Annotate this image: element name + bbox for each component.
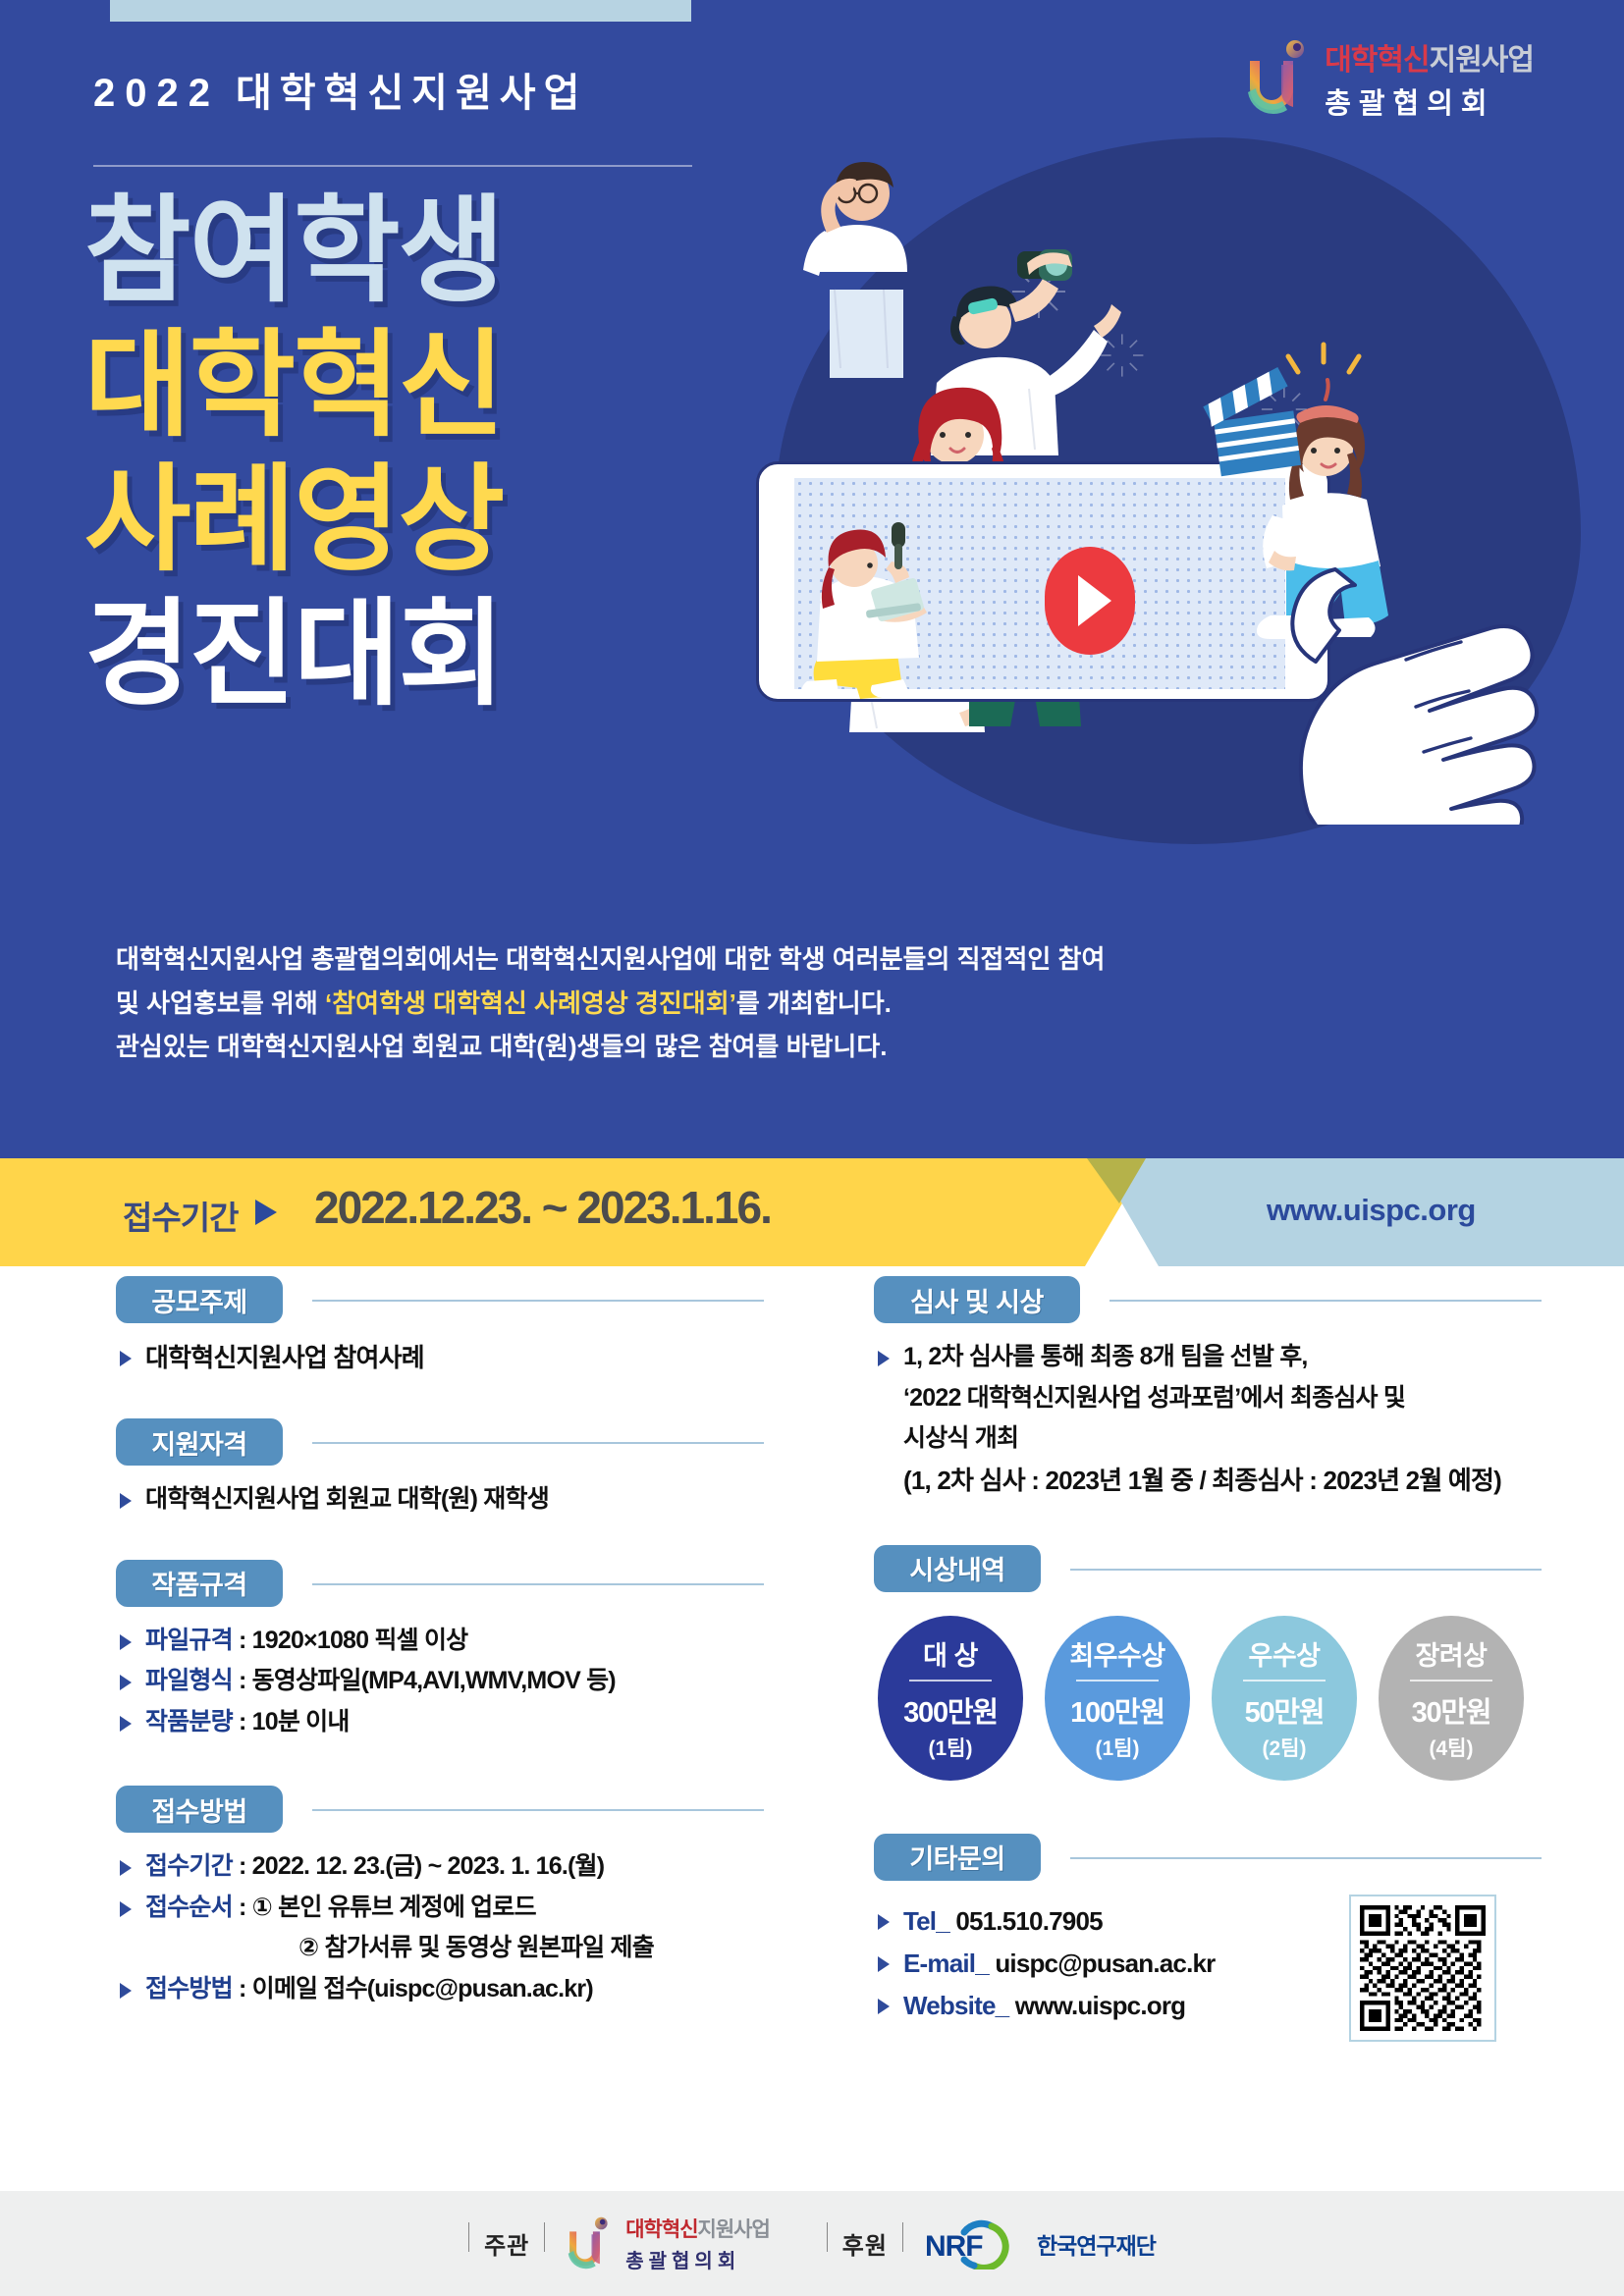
section-title-badge: 작품규격: [116, 1560, 283, 1607]
play-button-icon: [1045, 547, 1135, 655]
nrf-abbr: NRF: [925, 2230, 983, 2264]
host-tag: 주관: [468, 2226, 545, 2261]
section-rule: [312, 1442, 764, 1444]
kicker-divider: [93, 165, 692, 167]
item-sep: :: [233, 1852, 252, 1880]
band-label: 접수기간: [123, 1192, 238, 1239]
nrf-logo: NRF 한국연구재단: [921, 2218, 1156, 2269]
qr-code[interactable]: [1349, 1895, 1496, 2042]
nrf-korean-name: 한국연구재단: [1037, 2227, 1156, 2261]
footer-logo-line1-gray: 지원사업: [698, 2218, 770, 2241]
hero-illustration: [727, 118, 1624, 942]
contact-value: www.uispc.org: [1008, 1991, 1185, 2020]
uispc-logo-text: 대학혁신지원사업 총괄협의회: [1325, 35, 1534, 122]
list-item: 파일규격 : 1920×1080 픽셀 이상: [116, 1623, 764, 1660]
contact-label: Website_: [903, 1991, 1008, 2020]
list-item-continued: (1, 2차 심사 : 2023년 1월 중 / 최종심사 : 2023년 2월…: [874, 1462, 1542, 1500]
section-items: 파일규격 : 1920×1080 픽셀 이상 파일형식 : 동영상파일(MP4,…: [116, 1623, 764, 1741]
band-dates: 2022.12.23. ~ 2023.1.16.: [314, 1181, 771, 1234]
section-header: 기타문의: [874, 1834, 1542, 1881]
list-item: 접수방법 : 이메일 접수(uispc@pusan.ac.kr): [116, 1971, 764, 2008]
contact-label: Tel_: [903, 1906, 949, 1936]
headline-line-4: 경진대회: [84, 588, 752, 722]
award-name: 대 상: [923, 1634, 978, 1673]
uispc-logo-mark-icon: [563, 2216, 614, 2271]
award-amount: 50만원: [1245, 1689, 1325, 1731]
section-header: 지원자격: [116, 1418, 764, 1466]
item-value: : 이메일 접수(uispc@pusan.ac.kr): [233, 1975, 593, 2002]
uispc-logo-text: 대학혁신지원사업 총괄협의회: [625, 2214, 770, 2273]
award-badge: 최우수상 100만원 (1팀): [1045, 1616, 1190, 1781]
nrf-logo-mark-icon: NRF: [921, 2218, 1027, 2269]
section-judging: 심사 및 시상 1, 2차 심사를 통해 최종 8개 팀을 선발 후, ‘202…: [874, 1276, 1542, 1500]
section-title-badge: 기타문의: [874, 1834, 1041, 1881]
section-rule: [1070, 1857, 1542, 1859]
award-teams: (4팀): [1430, 1733, 1474, 1762]
awards-list: 대 상 300만원 (1팀) 최우수상 100만원 (1팀) 우수상 50만원 …: [874, 1616, 1542, 1783]
award-amount: 300만원: [903, 1689, 998, 1731]
award-amount: 100만원: [1070, 1689, 1164, 1731]
award-divider: [1076, 1680, 1159, 1682]
item-value: : 10분 이내: [233, 1708, 350, 1735]
list-item-continued: ‘2022 대학혁신지원사업 성과포럼’에서 최종심사 및: [874, 1380, 1542, 1417]
award-name: 장려상: [1415, 1634, 1487, 1673]
section-howto: 접수방법 접수기간 : 2022. 12. 23.(금) ~ 2023. 1. …: [116, 1786, 764, 2007]
hand-holding-phone-illustration: [1237, 412, 1561, 825]
uispc-logo-hero: 대학혁신지원사업 총괄협의회: [1240, 35, 1534, 122]
item-value: : 동영상파일(MP4,AVI,WMV,MOV 등): [233, 1667, 616, 1694]
section-header: 작품규격: [116, 1560, 764, 1607]
section-rule: [1110, 1300, 1542, 1302]
list-item: 작품분량 : 10분 이내: [116, 1704, 764, 1741]
award-amount: 30만원: [1412, 1689, 1491, 1731]
footer: 주관: [0, 2191, 1624, 2296]
award-name: 최우수상: [1069, 1634, 1164, 1673]
list-item: 접수기간 : 2022. 12. 23.(금) ~ 2023. 1. 16.(월…: [116, 1848, 764, 1886]
logo-line1-red: 대학혁신: [1325, 44, 1429, 77]
award-badge: 장려상 30만원 (4팀): [1379, 1616, 1524, 1781]
section-items: 대학혁신지원사업 참여사례: [116, 1339, 764, 1377]
intro-line-2-highlight: ‘참여학생 대학혁신 사례영상 경진대회’: [325, 988, 736, 1018]
kicker-year: 2022: [93, 72, 220, 115]
section-title-badge: 공모주제: [116, 1276, 283, 1323]
intro-line-2b: 를 개최합니다.: [736, 988, 892, 1018]
section-eligibility: 지원자격 대학혁신지원사업 회원교 대학(원) 재학생: [116, 1418, 764, 1519]
item-value: : ① 본인 유튜브 계정에 업로드: [233, 1894, 536, 1921]
left-column: 공모주제 대학혁신지원사업 참여사례 지원자격 대학혁신지원사업 회원교 대학(…: [116, 1276, 764, 2033]
award-divider: [1243, 1680, 1326, 1682]
section-title-badge: 시상내역: [874, 1545, 1041, 1592]
section-items: 대학혁신지원사업 회원교 대학(원) 재학생: [116, 1481, 764, 1519]
section-items: 1, 2차 심사를 통해 최종 8개 팀을 선발 후, ‘2022 대학혁신지원…: [874, 1339, 1542, 1500]
section-header: 접수방법: [116, 1786, 764, 1833]
intro-paragraph: 대학혁신지원사업 총괄협의회에서는 대학혁신지원사업에 대한 학생 여러분들의 …: [116, 937, 1216, 1069]
band-website-url[interactable]: www.uispc.org: [1267, 1193, 1476, 1228]
list-item: 접수순서 : ① 본인 유튜브 계정에 업로드: [116, 1890, 764, 1927]
section-spec: 작품규격 파일규격 : 1920×1080 픽셀 이상 파일형식 : 동영상파일…: [116, 1560, 764, 1741]
section-items: 접수기간 : 2022. 12. 23.(금) ~ 2023. 1. 16.(월…: [116, 1848, 764, 2007]
logo-line2: 총괄협의회: [1325, 80, 1534, 122]
section-awards: 시상내역 대 상 300만원 (1팀) 최우수상 100만원 (1팀) 우수상: [874, 1545, 1542, 1783]
item-value: : 1920×1080 픽셀 이상: [233, 1627, 468, 1654]
application-period-band: 접수기간 2022.12.23. ~ 2023.1.16. www.uispc.…: [0, 1158, 1624, 1266]
headline-line-2: 대학혁신: [84, 319, 752, 454]
section-header: 심사 및 시상: [874, 1276, 1542, 1323]
section-header: 공모주제: [116, 1276, 764, 1323]
item-label: 파일규격: [145, 1627, 233, 1654]
footer-logo-line2: 총괄협의회: [625, 2245, 770, 2273]
intro-line-3: 관심있는 대학혁신지원사업 회원교 대학(원)생들의 많은 참여를 바랍니다.: [116, 1025, 1216, 1069]
item-value: 2022. 12. 23.(금) ~ 2023. 1. 16.(월): [252, 1852, 605, 1880]
section-rule: [312, 1809, 764, 1811]
details-section: 공모주제 대학혁신지원사업 참여사례 지원자격 대학혁신지원사업 회원교 대학(…: [0, 1276, 1624, 2160]
headline-line-3: 사례영상: [84, 454, 752, 588]
award-badge: 우수상 50만원 (2팀): [1212, 1616, 1357, 1781]
section-title-badge: 지원자격: [116, 1418, 283, 1466]
contact-value: uispc@pusan.ac.kr: [989, 1949, 1216, 1978]
host-group: 주관: [468, 2214, 770, 2273]
item-label: 작품분량: [145, 1708, 233, 1735]
item-label: 접수기간: [145, 1852, 233, 1880]
person-microphone-figure: [787, 510, 984, 707]
sponsor-tag: 후원: [827, 2226, 903, 2261]
section-rule: [312, 1583, 764, 1585]
award-divider: [1410, 1680, 1492, 1682]
kicker-text: 대학혁신지원사업: [236, 72, 587, 115]
section-title-badge: 심사 및 시상: [874, 1276, 1080, 1323]
logo-line1-gray: 지원사업: [1430, 44, 1534, 77]
right-column: 심사 및 시상 1, 2차 심사를 통해 최종 8개 팀을 선발 후, ‘202…: [874, 1276, 1542, 2051]
award-name: 우수상: [1248, 1634, 1320, 1673]
award-teams: (2팀): [1263, 1733, 1307, 1762]
section-rule: [1070, 1569, 1542, 1571]
intro-line-2: 및 사업홍보를 위해 ‘참여학생 대학혁신 사례영상 경진대회’를 개최합니다.: [116, 982, 1216, 1026]
section-contact: 기타문의 Tel_ 051.510.7905 E-mail_ uispc@pus…: [874, 1834, 1542, 2025]
hero-section: 2022대학혁신지원사업: [0, 0, 1624, 1158]
page-title: 참여학생 대학혁신 사례영상 경진대회: [84, 185, 752, 722]
award-divider: [909, 1680, 992, 1682]
contact-label: E-mail_: [903, 1949, 989, 1978]
list-item: 1, 2차 심사를 통해 최종 8개 팀을 선발 후,: [874, 1339, 1542, 1376]
intro-line-2a: 및 사업홍보를 위해: [116, 988, 325, 1018]
intro-line-1: 대학혁신지원사업 총괄협의회에서는 대학혁신지원사업에 대한 학생 여러분들의 …: [116, 937, 1216, 982]
contact-value: 051.510.7905: [949, 1906, 1103, 1936]
list-item: 대학혁신지원사업 회원교 대학(원) 재학생: [116, 1481, 764, 1519]
kicker: 2022대학혁신지원사업: [93, 61, 587, 118]
section-rule: [312, 1300, 764, 1302]
list-item-continued: 시상식 개최: [874, 1420, 1542, 1458]
list-item: 파일형식 : 동영상파일(MP4,AVI,WMV,MOV 등): [116, 1663, 764, 1700]
list-item-continued: ② 참가서류 및 동영상 원본파일 제출: [116, 1930, 764, 1967]
section-topic: 공모주제 대학혁신지원사업 참여사례: [116, 1276, 764, 1377]
award-badge: 대 상 300만원 (1팀): [878, 1616, 1023, 1781]
award-teams: (1팀): [1096, 1733, 1140, 1762]
sponsor-group: 후원 NRF 한국연구재단: [827, 2218, 1156, 2269]
arrow-right-icon: [255, 1200, 277, 1225]
item-label: 접수방법: [145, 1975, 233, 2002]
uispc-logo-mark-icon: [1240, 39, 1313, 118]
item-label: 접수순서: [145, 1894, 233, 1921]
footer-logo-line1-red: 대학혁신: [625, 2218, 697, 2241]
top-accent-strip: [110, 0, 691, 22]
section-header: 시상내역: [874, 1545, 1542, 1592]
section-title-badge: 접수방법: [116, 1786, 283, 1833]
uispc-logo-footer: 대학혁신지원사업 총괄협의회: [563, 2214, 770, 2273]
list-item: 대학혁신지원사업 참여사례: [116, 1339, 764, 1377]
award-teams: (1팀): [929, 1733, 973, 1762]
item-label: 파일형식: [145, 1667, 233, 1694]
headline-line-1: 참여학생: [84, 185, 752, 319]
